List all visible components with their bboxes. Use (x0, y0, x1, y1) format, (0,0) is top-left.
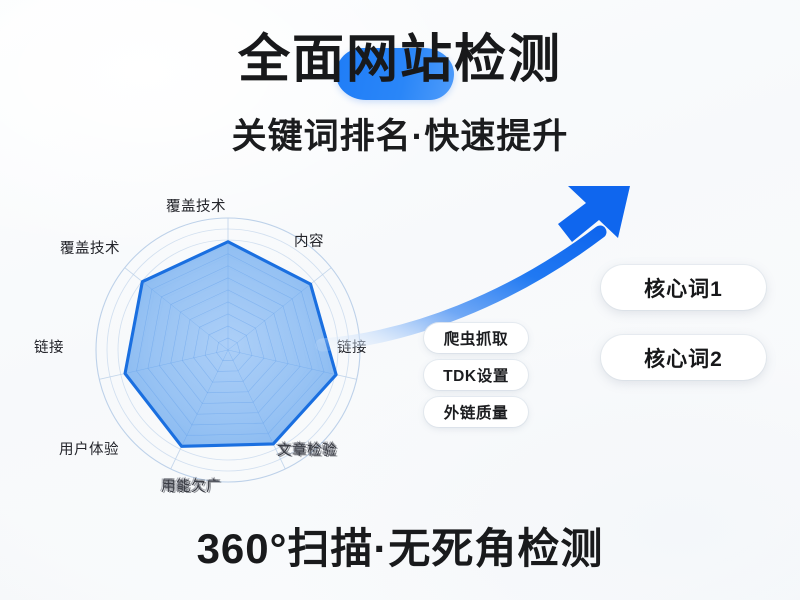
keyword-card-1[interactable]: 核心词1 (601, 265, 766, 310)
radar-label-top: 覆盖技术 (166, 200, 226, 215)
radar-chart-svg (28, 192, 428, 512)
title-part-highlight: 网站 (346, 31, 454, 89)
radar-series (125, 242, 336, 447)
radar-label-performance: 用能欠广 (161, 480, 221, 495)
tag-pill-3[interactable]: 外链质量 (424, 397, 528, 427)
radar-label-ux: 用户体验 (59, 443, 119, 458)
radar-chart: 覆盖技术内容链接文章检验用能欠广用户体验链接覆盖技术 (28, 192, 428, 512)
tag-pill-1[interactable]: 爬虫抓取 (424, 323, 528, 353)
headline-block: 全面网站检测 关键词排名·快速提升 (0, 32, 800, 159)
keyword-card-2[interactable]: 核心词2 (601, 335, 766, 380)
page-title: 全面网站检测 (238, 32, 562, 88)
radar-label-link-right: 链接 (337, 341, 367, 356)
radar-label-content: 内容 (294, 235, 324, 250)
poster-canvas: 全面网站检测 关键词排名·快速提升 覆盖技术内容链接文章检验用能欠广用户体验链接… (0, 0, 800, 600)
radar-label-link-left: 链接 (34, 341, 64, 356)
radar-label-coverage: 覆盖技术 (60, 242, 120, 257)
arrow-head (558, 186, 630, 242)
tag-pill-2[interactable]: TDK设置 (424, 360, 528, 390)
title-part-after: 检测 (454, 31, 562, 89)
footer-tagline: 360°扫描·无死角检测 (0, 515, 800, 576)
radar-label-article: 文章检验 (277, 444, 337, 459)
title-part-before: 全面 (238, 31, 346, 89)
page-subtitle: 关键词排名·快速提升 (0, 108, 800, 159)
